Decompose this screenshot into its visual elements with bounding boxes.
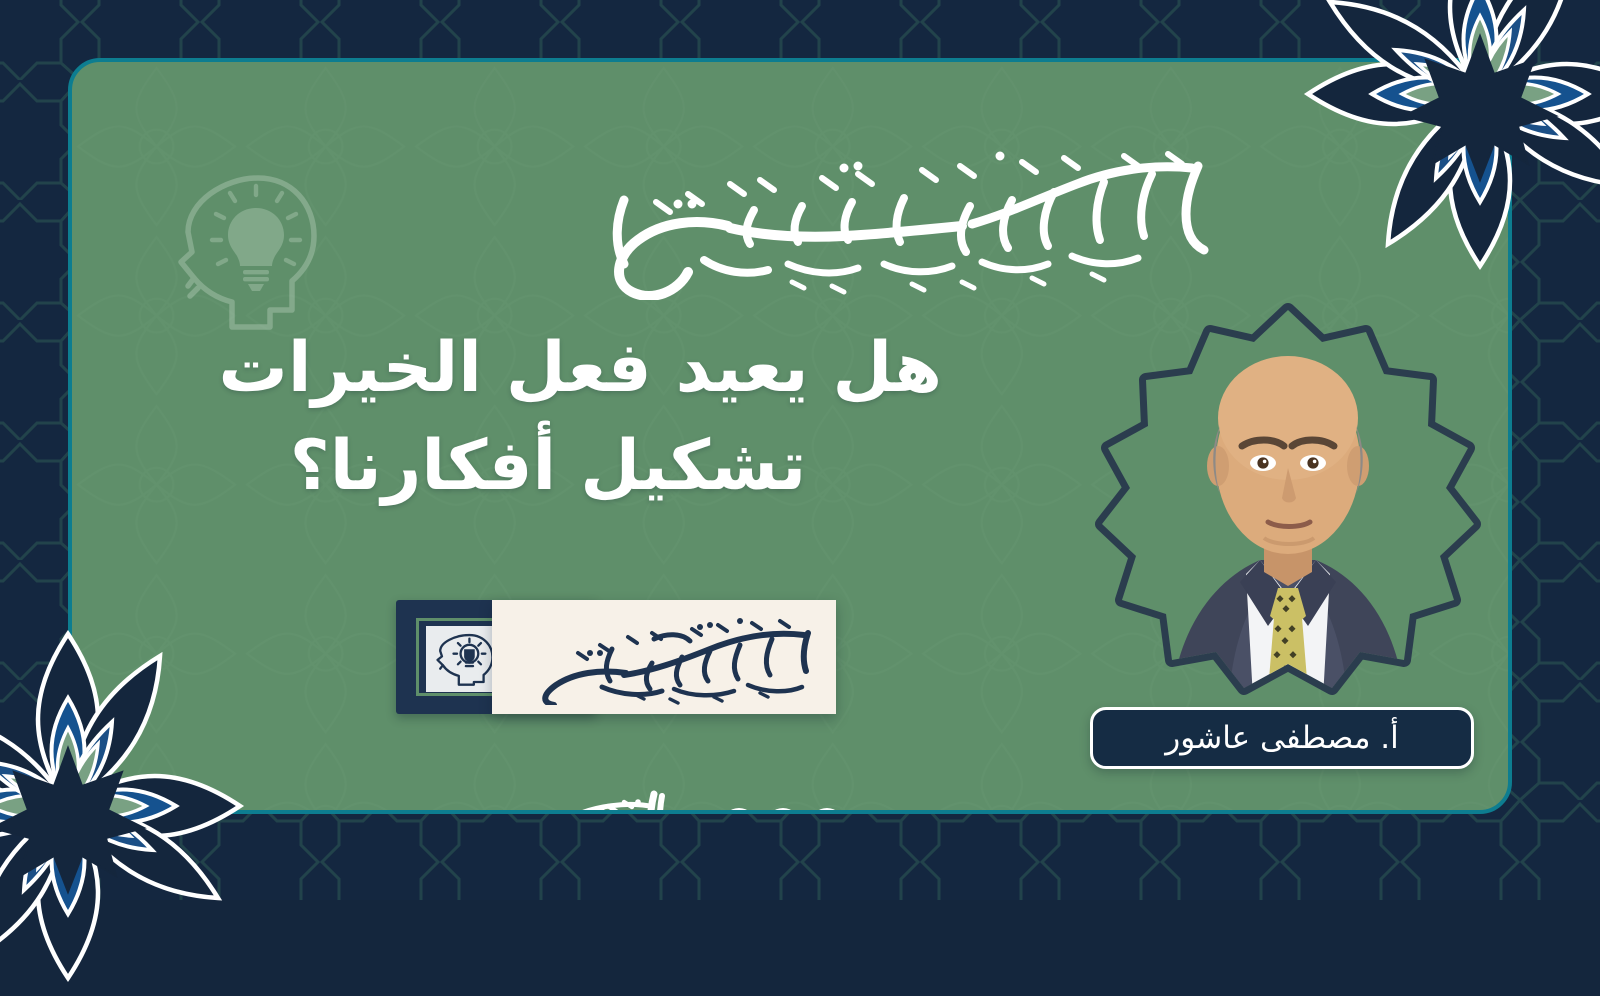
header-calligraphy: بوابة الاستشارات الإلكترونية <box>492 140 1232 300</box>
social-links[interactable] <box>722 808 844 814</box>
x-twitter-icon[interactable] <box>810 808 844 814</box>
head-lightbulb-icon <box>172 170 322 335</box>
head-lightbulb-icon <box>434 631 496 687</box>
website-url[interactable]: www.istsharat.net <box>888 810 1165 815</box>
brand-logo-plaque: استشارات فكرية <box>396 600 836 714</box>
footer-bar: المجتمع <box>550 786 1170 814</box>
portrait-frame <box>1078 296 1498 716</box>
speaker-name-badge: أ. مصطفى عاشور <box>1090 707 1474 769</box>
speaker-name-label: أ. مصطفى عاشور <box>1165 720 1399 756</box>
corner-ornament-top-right <box>1290 0 1600 284</box>
title-line-1: هل يعيد فعل الخيرات <box>242 320 942 418</box>
speaker-portrait <box>1078 296 1498 716</box>
almujtama-wordmark: المجتمع <box>550 786 676 814</box>
title-line-2: تشكيل أفكارنا؟ <box>242 418 942 516</box>
main-title: هل يعيد فعل الخيرات تشكيل أفكارنا؟ <box>242 320 942 516</box>
logo-calligraphy-card: استشارات فكرية <box>492 600 836 714</box>
facebook-icon[interactable] <box>766 808 800 814</box>
logo-calligraphy: استشارات فكرية <box>504 609 824 705</box>
instagram-icon[interactable] <box>722 808 756 814</box>
corner-ornament-bottom-left <box>0 616 258 996</box>
